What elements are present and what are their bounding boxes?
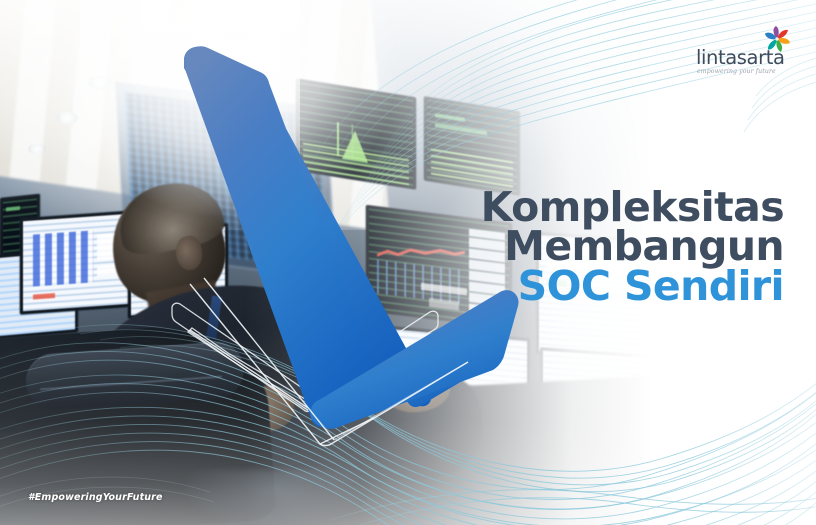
chevron-outline-right-inner (334, 362, 468, 440)
chevron-outline-inner (204, 278, 334, 440)
campaign-hashtag: #EmpoweringYourFuture (28, 492, 163, 503)
banner-root: lintasarta empowering your future Komple… (0, 0, 816, 525)
headline-line-3: SOC Sendiri (481, 267, 784, 306)
headline-block: Kompleksitas Membangun SOC Sendiri (481, 188, 784, 306)
chevron-outline-left (190, 284, 374, 444)
logo-wordmark: lintasarta (696, 48, 785, 68)
logo-tagline: empowering your future (697, 68, 776, 75)
headline-line-2: Membangun (481, 227, 784, 266)
brand-logo[interactable]: lintasarta empowering your future (696, 24, 794, 76)
